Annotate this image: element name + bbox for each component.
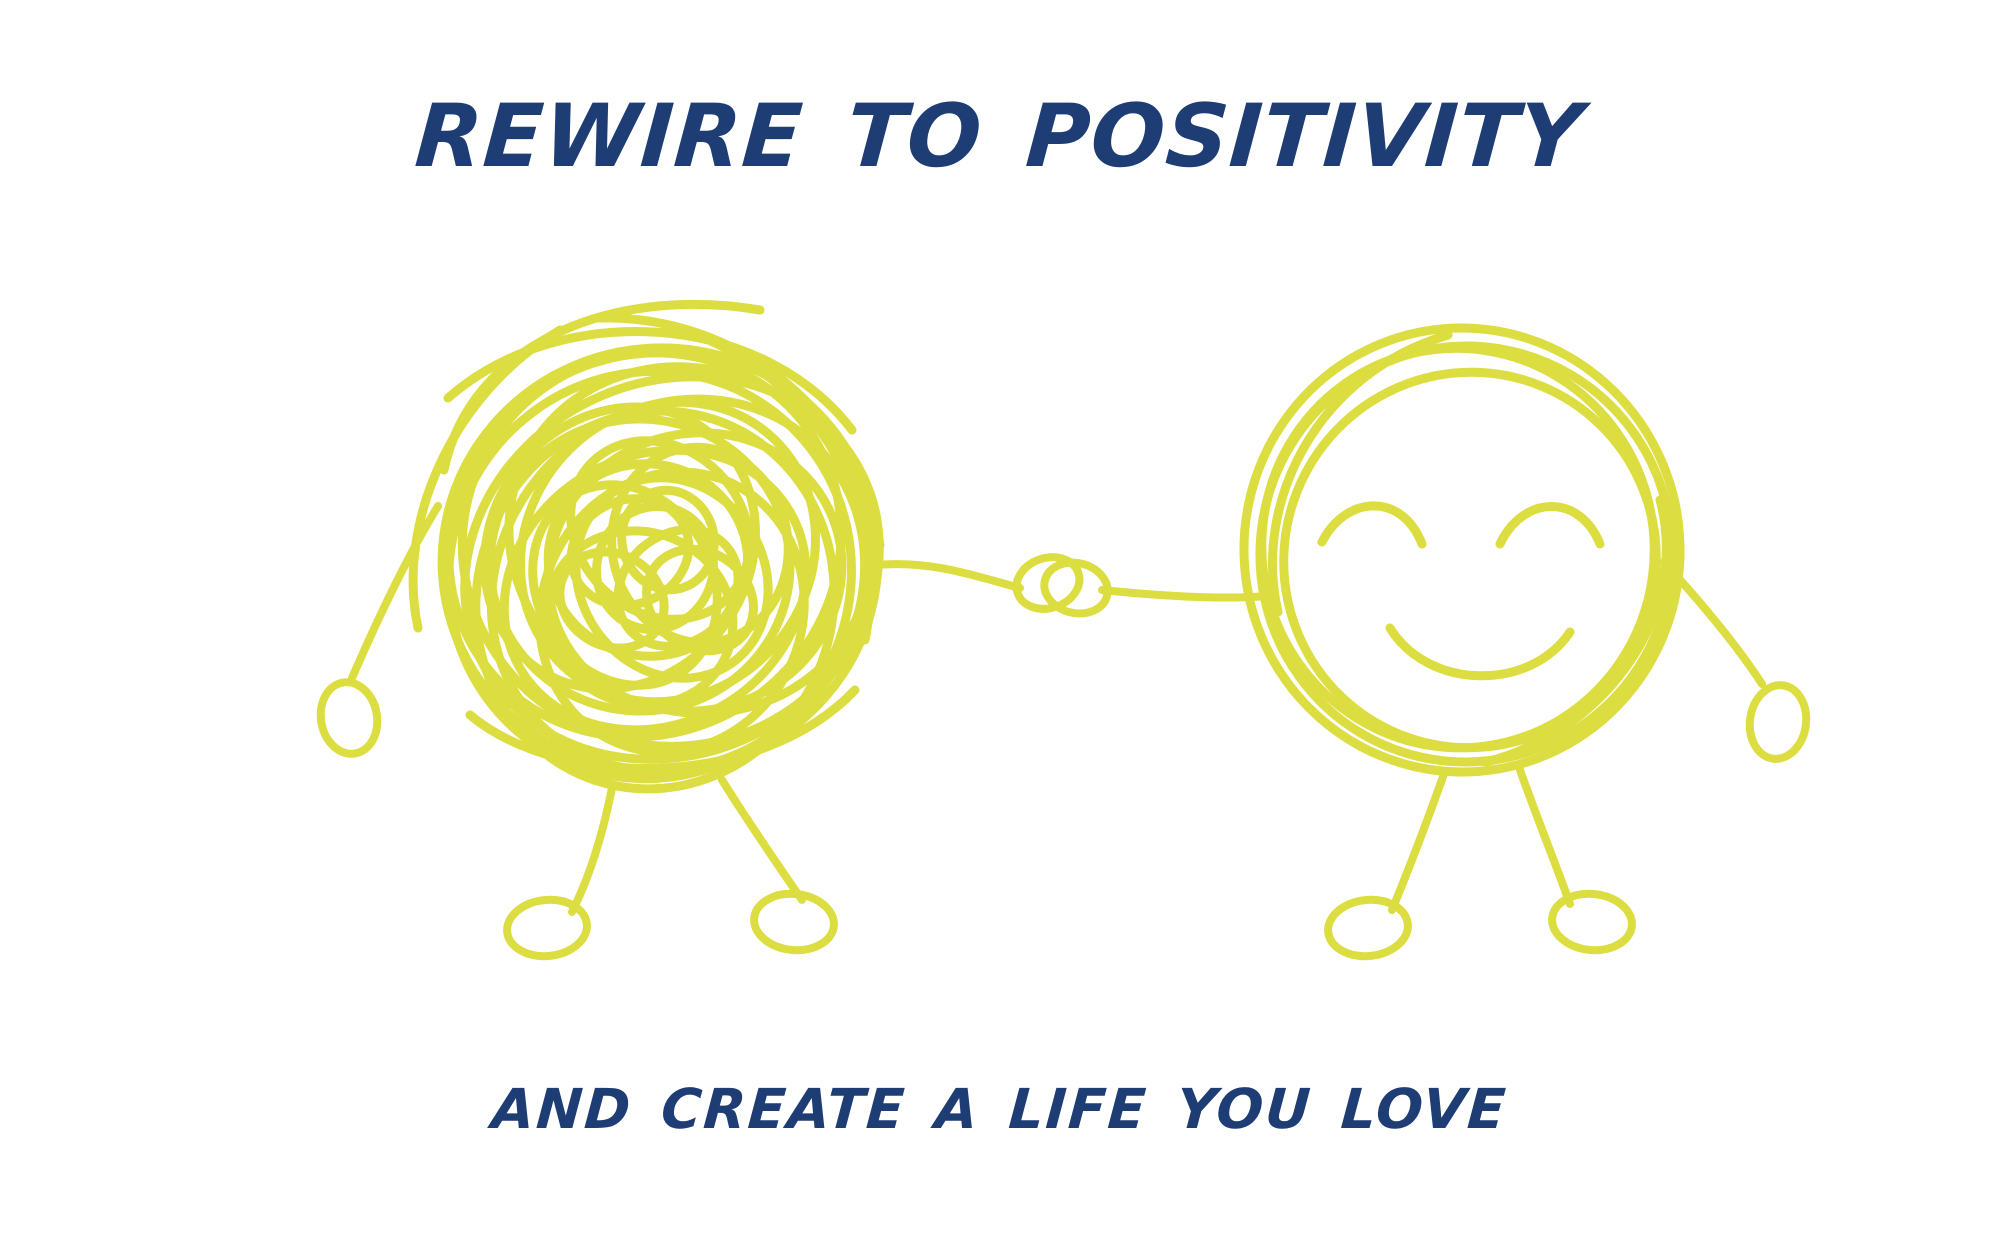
smiley-right-foot — [1549, 890, 1634, 954]
smiley-left-foot — [1325, 896, 1410, 960]
poster-canvas: Rewire To Positivity — [0, 0, 2000, 1250]
smiley-character — [1102, 307, 1811, 961]
tangled-legs — [572, 780, 802, 912]
page-subtitle: And Create A Life You Love — [0, 1062, 2000, 1144]
smiley-legs — [1392, 770, 1570, 910]
smiley-left-arm — [1102, 590, 1268, 598]
smiley-right-arm — [1664, 562, 1762, 684]
smiley-right-eye — [1500, 507, 1600, 545]
tangled-right-arm — [878, 564, 1020, 588]
tangled-right-foot — [751, 890, 836, 954]
tangled-left-arm — [352, 506, 438, 678]
tangled-left-foot — [504, 896, 589, 960]
tangled-left-hand — [315, 678, 383, 759]
joined-hands-knot — [1010, 549, 1113, 620]
smiley-right-hand — [1745, 681, 1811, 762]
smiley-face — [1322, 506, 1600, 676]
scribble-head — [372, 276, 944, 855]
smiley-mouth — [1390, 628, 1570, 676]
smiley-left-eye — [1322, 506, 1422, 544]
tangled-character — [315, 276, 1020, 960]
smiley-head — [1219, 307, 1712, 804]
